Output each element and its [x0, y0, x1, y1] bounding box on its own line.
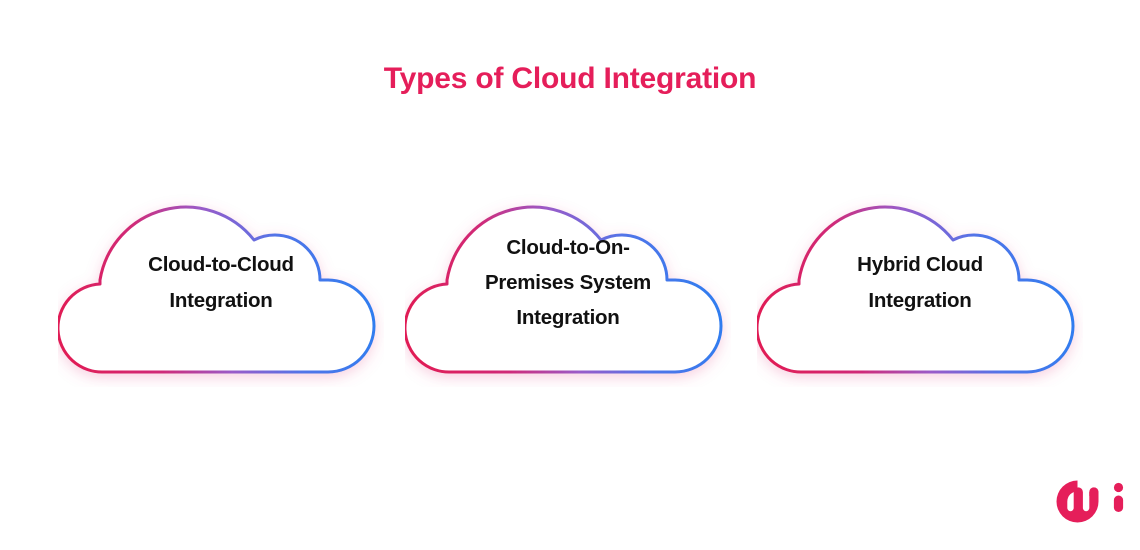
page-title: Types of Cloud Integration [0, 62, 1140, 96]
cmi-logo-icon [1052, 478, 1126, 524]
cloud-shape-icon [405, 162, 731, 387]
cloud-list: Cloud-to-CloudIntegration [0, 162, 1140, 397]
brand-logo[interactable] [1052, 478, 1126, 524]
cloud-shape-icon [757, 162, 1083, 387]
cloud-card-hybrid-cloud[interactable]: Hybrid CloudIntegration [757, 162, 1083, 387]
infographic-canvas: Types of Cloud Integration [0, 0, 1140, 550]
cloud-card-cloud-to-on-premises[interactable]: Cloud-to-On-Premises SystemIntegration [405, 162, 731, 387]
cloud-card-cloud-to-cloud[interactable]: Cloud-to-CloudIntegration [58, 162, 384, 387]
cloud-shape-icon [58, 162, 384, 387]
